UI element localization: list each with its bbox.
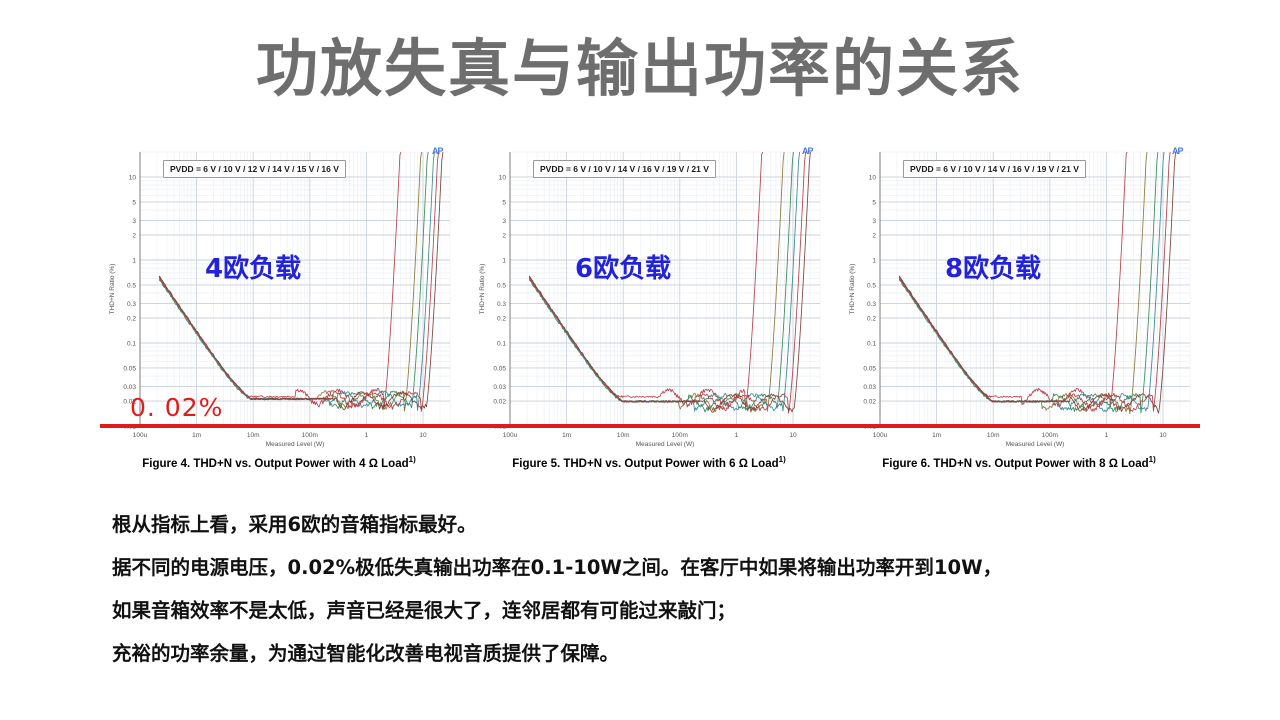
y-tick-label: 1	[132, 257, 136, 264]
y-tick-label: 0.05	[123, 365, 136, 372]
y-tick-label: 3	[872, 218, 876, 225]
y-tick-label: 0.1	[497, 340, 506, 347]
plot-area: 1053210.50.30.20.10.050.030.020.01100u1m…	[470, 138, 828, 468]
y-tick-label: 5	[872, 199, 876, 206]
chart-caption: Figure 6. THD+N vs. Output Power with 8 …	[840, 455, 1198, 470]
chart-caption-footnote: 1)	[409, 455, 416, 464]
x-tick-label: 100u	[873, 432, 888, 439]
y-tick-label: 2	[502, 233, 506, 240]
y-tick-label: 2	[872, 233, 876, 240]
x-tick-label: 10	[419, 432, 427, 439]
chart-caption-text: Figure 6. THD+N vs. Output Power with 8 …	[882, 458, 1148, 470]
y-tick-label: 0.02	[863, 399, 876, 406]
chart-caption: Figure 5. THD+N vs. Output Power with 6 …	[470, 455, 828, 470]
body-text: 根从指标上看，采用6欧的音箱指标最好。 据不同的电源电压，0.02%极低失真输出…	[112, 503, 1242, 675]
x-tick-label: 1m	[932, 432, 941, 439]
y-axis-label: THD+N Ratio (%)	[849, 264, 856, 315]
y-tick-label: 0.2	[497, 316, 506, 323]
load-overlay-label: 4欧负载	[205, 248, 301, 285]
y-tick-label: 0.03	[493, 384, 506, 391]
y-tick-label: 3	[132, 218, 136, 225]
y-tick-label: 0.05	[493, 365, 506, 372]
ap-logo-icon: AP	[432, 146, 443, 156]
y-tick-label: 0.5	[127, 282, 136, 289]
x-axis-label: Measured Level (W)	[266, 441, 325, 448]
legend-pvdd: PVDD = 6 V / 10 V / 14 V / 16 V / 19 V /…	[903, 160, 1086, 178]
y-tick-label: 0.03	[123, 384, 136, 391]
x-tick-label: 10m	[247, 432, 260, 439]
x-tick-label: 10m	[617, 432, 630, 439]
y-tick-label: 1	[872, 257, 876, 264]
ap-logo-icon: AP	[802, 146, 813, 156]
threshold-label: 0. 02%	[130, 393, 223, 422]
x-tick-label: 10m	[987, 432, 1000, 439]
x-tick-label: 100u	[133, 432, 148, 439]
plot-svg: 1053210.50.30.20.10.050.030.020.01100u1m…	[470, 138, 828, 468]
load-overlay-label: 8欧负载	[945, 248, 1041, 285]
y-tick-label: 5	[132, 199, 136, 206]
y-tick-label: 0.3	[867, 301, 876, 308]
y-tick-label: 0.05	[863, 365, 876, 372]
x-tick-label: 100u	[503, 432, 518, 439]
x-tick-label: 1m	[562, 432, 571, 439]
page-title: 功放失真与输出功率的关系	[0, 18, 1280, 108]
ap-logo-icon: AP	[1172, 146, 1183, 156]
body-line-2: 据不同的电源电压，0.02%极低失真输出功率在0.1-10W之间。在客厅中如果将…	[112, 546, 1242, 589]
x-tick-label: 100m	[672, 432, 688, 439]
x-tick-label: 100m	[1042, 432, 1058, 439]
y-tick-label: 2	[132, 233, 136, 240]
y-tick-label: 0.1	[867, 340, 876, 347]
plot-area: 1053210.50.30.20.10.050.030.020.01100u1m…	[840, 138, 1198, 468]
y-tick-label: 0.2	[867, 316, 876, 323]
x-tick-label: 10	[1159, 432, 1167, 439]
y-tick-label: 3	[502, 218, 506, 225]
chart-caption-footnote: 1)	[779, 455, 786, 464]
y-tick-label: 10	[869, 174, 877, 181]
x-tick-label: 100m	[302, 432, 318, 439]
y-tick-label: 0.02	[493, 399, 506, 406]
y-tick-label: 1	[502, 257, 506, 264]
charts-container: 1053210.50.30.20.10.050.030.020.01100u1m…	[100, 138, 1200, 488]
x-tick-label: 10	[789, 432, 797, 439]
load-overlay-label: 6欧负载	[575, 248, 671, 285]
y-tick-label: 0.5	[867, 282, 876, 289]
x-tick-label: 1	[1105, 432, 1109, 439]
threshold-line-0p02	[100, 424, 1200, 428]
x-axis-label: Measured Level (W)	[636, 441, 695, 448]
chart-4ohm: 1053210.50.30.20.10.050.030.020.01100u1m…	[100, 138, 458, 488]
body-line-1: 根从指标上看，采用6欧的音箱指标最好。	[112, 503, 1242, 546]
y-tick-label: 10	[129, 174, 137, 181]
chart-caption-text: Figure 5. THD+N vs. Output Power with 6 …	[512, 458, 778, 470]
x-tick-label: 1m	[192, 432, 201, 439]
chart-6ohm: 1053210.50.30.20.10.050.030.020.01100u1m…	[470, 138, 828, 488]
body-line-3: 如果音箱效率不是太低，声音已经是很大了，连邻居都有可能过来敲门；	[112, 589, 1242, 632]
x-tick-label: 1	[735, 432, 739, 439]
chart-caption-text: Figure 4. THD+N vs. Output Power with 4 …	[142, 458, 408, 470]
chart-caption: Figure 4. THD+N vs. Output Power with 4 …	[100, 455, 458, 470]
legend-pvdd: PVDD = 6 V / 10 V / 12 V / 14 V / 15 V /…	[163, 160, 346, 178]
y-axis-label: THD+N Ratio (%)	[109, 264, 116, 315]
chart-8ohm: 1053210.50.30.20.10.050.030.020.01100u1m…	[840, 138, 1198, 488]
y-tick-label: 5	[502, 199, 506, 206]
chart-caption-footnote: 1)	[1149, 455, 1156, 464]
y-tick-label: 0.1	[127, 340, 136, 347]
plot-svg: 1053210.50.30.20.10.050.030.020.01100u1m…	[840, 138, 1198, 468]
x-axis-label: Measured Level (W)	[1006, 441, 1065, 448]
y-tick-label: 0.2	[127, 316, 136, 323]
x-tick-label: 1	[365, 432, 369, 439]
y-tick-label: 0.3	[497, 301, 506, 308]
y-tick-label: 10	[499, 174, 507, 181]
y-tick-label: 0.3	[127, 301, 136, 308]
y-axis-label: THD+N Ratio (%)	[479, 264, 486, 315]
legend-pvdd: PVDD = 6 V / 10 V / 14 V / 16 V / 19 V /…	[533, 160, 716, 178]
y-tick-label: 0.03	[863, 384, 876, 391]
body-line-4: 充裕的功率余量，为通过智能化改善电视音质提供了保障。	[112, 632, 1242, 675]
y-tick-label: 0.5	[497, 282, 506, 289]
